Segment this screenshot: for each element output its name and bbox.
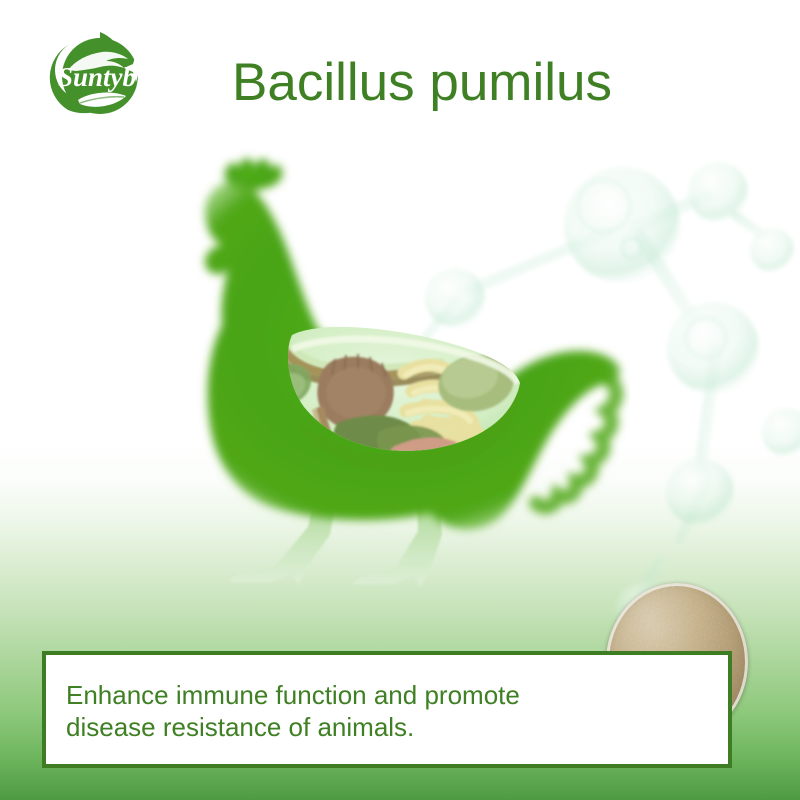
chicken-anatomy-illustration	[180, 135, 630, 605]
caption-box: Enhance immune function and promote dise…	[42, 651, 732, 768]
logo-wordmark: Suntybio	[58, 62, 157, 92]
caption-line-2: disease resistance of animals.	[66, 712, 414, 742]
product-banner: Suntybio Bacillus pumilus	[0, 0, 800, 800]
page-title: Bacillus pumilus	[232, 50, 612, 116]
caption-line-1: Enhance immune function and promote	[66, 680, 520, 710]
suntybio-logo: Suntybio	[28, 26, 173, 126]
caption-text: Enhance immune function and promote dise…	[66, 679, 656, 743]
